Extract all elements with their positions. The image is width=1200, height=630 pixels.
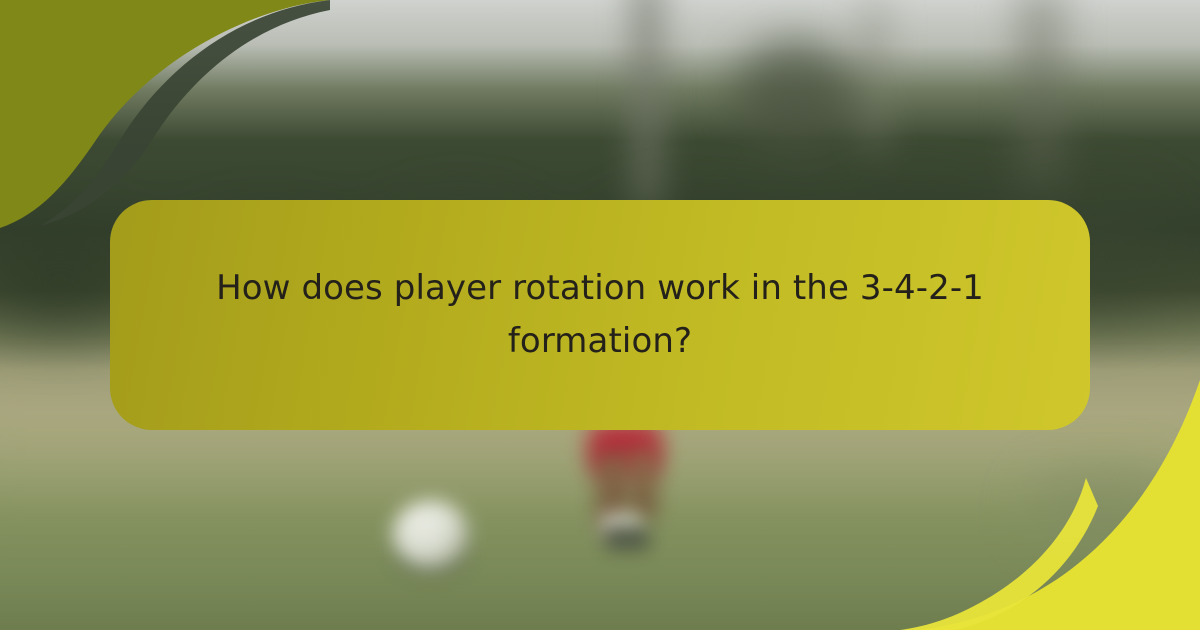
background-foliage-blob	[735, 40, 855, 150]
background-tree-trunk	[630, 0, 664, 210]
question-text: How does player rotation work in the 3-4…	[168, 262, 1032, 367]
player-leg	[628, 448, 658, 522]
soccer-ball	[392, 500, 470, 570]
player-boot	[604, 528, 650, 550]
share-card-canvas: How does player rotation work in the 3-4…	[0, 0, 1200, 630]
top-left-corner-decoration	[0, 0, 330, 230]
background-tree-trunk	[860, 0, 888, 150]
background-tree-trunk	[1018, 0, 1064, 190]
question-card: How does player rotation work in the 3-4…	[110, 200, 1090, 430]
